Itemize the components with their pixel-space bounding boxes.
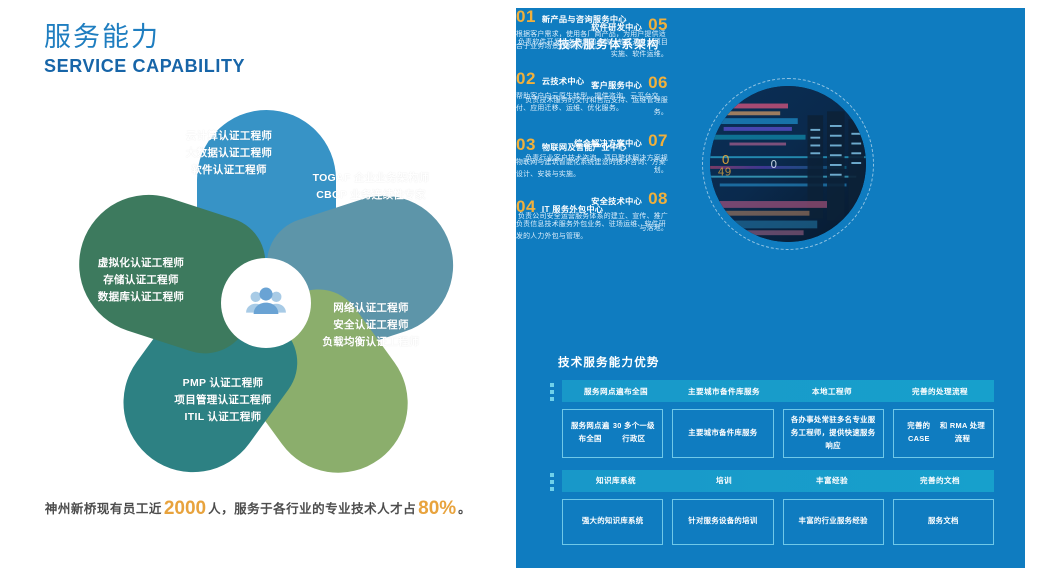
stat-mid: 人，服务于各行业的专业技术人才占 <box>208 502 416 516</box>
arch-item-05-desc: 负责软件开发业务的售前咨询、软件开发、项目实施、软件运维。 <box>516 37 668 61</box>
arch-item-05[interactable]: 软件研发中心 05 负责软件开发业务的售前咨询、软件开发、项目实施、软件运维。 <box>516 16 668 61</box>
row-marker-dots <box>550 383 554 401</box>
arch-item-05-number: 05 <box>648 16 668 33</box>
arch-item-08-number: 08 <box>648 190 668 207</box>
advantages-body-row-2: 强大的知识库系统 针对服务设备的培训 丰富的行业服务经验 服务文档 <box>562 499 994 545</box>
arch-item-06[interactable]: 客户服务中心 06 负责技术服务的交付和售后支持、运维管理服务。 <box>516 74 668 119</box>
stat-percent: 80% <box>416 498 458 519</box>
arch-item-05-name: 软件研发中心 <box>591 24 642 33</box>
advantages-table: 服务网点遍布全国 主要城市备件库服务 本地工程师 完善的处理流程 服务网点遍布全… <box>546 380 994 557</box>
adv-cell-1-4[interactable]: 完善的 CASE和 RMA 处理流程 <box>893 409 994 458</box>
left-panel: 服务能力 SERVICE CAPABILITY 云计算认证工程师 大数据 <box>0 0 516 576</box>
photo-dashed-ring: 0 49 0 <box>702 78 874 250</box>
arch-item-07-number: 07 <box>648 132 668 149</box>
adv-header-2-2: 培训 <box>670 470 778 492</box>
petal-pmp-label: PMP 认证工程师 项目管理认证工程师 ITIL 认证工程师 <box>128 375 318 426</box>
petal-virtualization-label: 虚拟化认证工程师 存储认证工程师 数据库认证工程师 <box>56 255 226 306</box>
adv-cell-2-1[interactable]: 强大的知识库系统 <box>562 499 663 545</box>
adv-cell-2-2[interactable]: 针对服务设备的培训 <box>672 499 773 545</box>
adv-cell-2-3[interactable]: 丰富的行业服务经验 <box>783 499 884 545</box>
flower-center-hub <box>221 258 311 348</box>
arch-item-08[interactable]: 安全技术中心 08 负责公司安全运营服务体系的建立、宣传、推广与落地。 <box>516 190 668 235</box>
svg-text:49: 49 <box>718 166 732 179</box>
arch-item-06-number: 06 <box>648 74 668 91</box>
adv-header-1-2: 主要城市备件库服务 <box>670 380 778 402</box>
people-group-icon <box>244 281 288 325</box>
adv-cell-2-4[interactable]: 服务文档 <box>893 499 994 545</box>
data-center-photo: 0 49 0 <box>710 86 866 242</box>
svg-text:0: 0 <box>770 158 777 171</box>
arch-item-08-name: 安全技术中心 <box>591 198 642 207</box>
advantages-block-2: 知识库系统 培训 丰富经验 完善的文档 强大的知识库系统 针对服务设备的培训 丰… <box>546 470 994 545</box>
arch-item-06-name: 客户服务中心 <box>591 82 642 91</box>
advantages-header-row-2: 知识库系统 培训 丰富经验 完善的文档 <box>562 470 994 492</box>
row-marker-dots <box>550 473 554 491</box>
adv-header-2-1: 知识库系统 <box>562 470 670 492</box>
adv-cell-1-1[interactable]: 服务网点遍布全国30 多个一级行政区 <box>562 409 663 458</box>
arch-item-07-name: 综合解决方案中心 <box>574 140 642 149</box>
adv-header-2-3: 丰富经验 <box>778 470 886 492</box>
page-title-en: SERVICE CAPABILITY <box>44 56 245 77</box>
arch-item-06-desc: 负责技术服务的交付和售后支持、运维管理服务。 <box>516 95 668 119</box>
advantages-header-row-1: 服务网点遍布全国 主要城市备件库服务 本地工程师 完善的处理流程 <box>562 380 994 402</box>
advantages-section-title: 技术服务能力优势 <box>558 354 660 370</box>
capability-flower-diagram: 云计算认证工程师 大数据认证工程师 软件认证工程师 TOGAF 企业业务架构师 … <box>18 88 488 458</box>
page-title-cn: 服务能力 <box>44 22 245 53</box>
stat-employee-count: 2000 <box>162 498 208 519</box>
adv-header-2-4: 完善的文档 <box>886 470 994 492</box>
advantages-body-row-1: 服务网点遍布全国30 多个一级行政区 主要城市备件库服务 各办事处常驻多名专业服… <box>562 409 994 458</box>
slide-root: 服务能力 SERVICE CAPABILITY 云计算认证工程师 大数据 <box>0 0 1041 576</box>
right-panel: 技术服务体系架构 <box>516 8 1025 568</box>
advantages-block-1: 服务网点遍布全国 主要城市备件库服务 本地工程师 完善的处理流程 服务网点遍布全… <box>546 380 994 458</box>
arch-item-07-desc: 负责行业客户技术咨询、项目整体解决方案规划。 <box>516 153 668 177</box>
page-title: 服务能力 SERVICE CAPABILITY <box>44 22 245 77</box>
adv-header-1-3: 本地工程师 <box>778 380 886 402</box>
stat-post: 。 <box>458 502 471 516</box>
adv-header-1-4: 完善的处理流程 <box>886 380 994 402</box>
employee-stat-line: 神州新桥现有员工近2000人，服务于各行业的专业技术人才占80%。 <box>0 498 516 520</box>
adv-cell-1-3[interactable]: 各办事处常驻多名专业服务工程师，提供快速服务响应 <box>783 409 884 458</box>
adv-header-1-1: 服务网点遍布全国 <box>562 380 670 402</box>
adv-cell-1-2[interactable]: 主要城市备件库服务 <box>672 409 773 458</box>
arch-item-07[interactable]: 综合解决方案中心 07 负责行业客户技术咨询、项目整体解决方案规划。 <box>516 132 668 177</box>
arch-item-08-desc: 负责公司安全运营服务体系的建立、宣传、推广与落地。 <box>516 211 668 235</box>
stat-pre: 神州新桥现有员工近 <box>45 502 162 516</box>
petal-togaf-label: TOGAF 企业业务架构师 CBCP 业务连续性专家 <box>276 170 466 204</box>
